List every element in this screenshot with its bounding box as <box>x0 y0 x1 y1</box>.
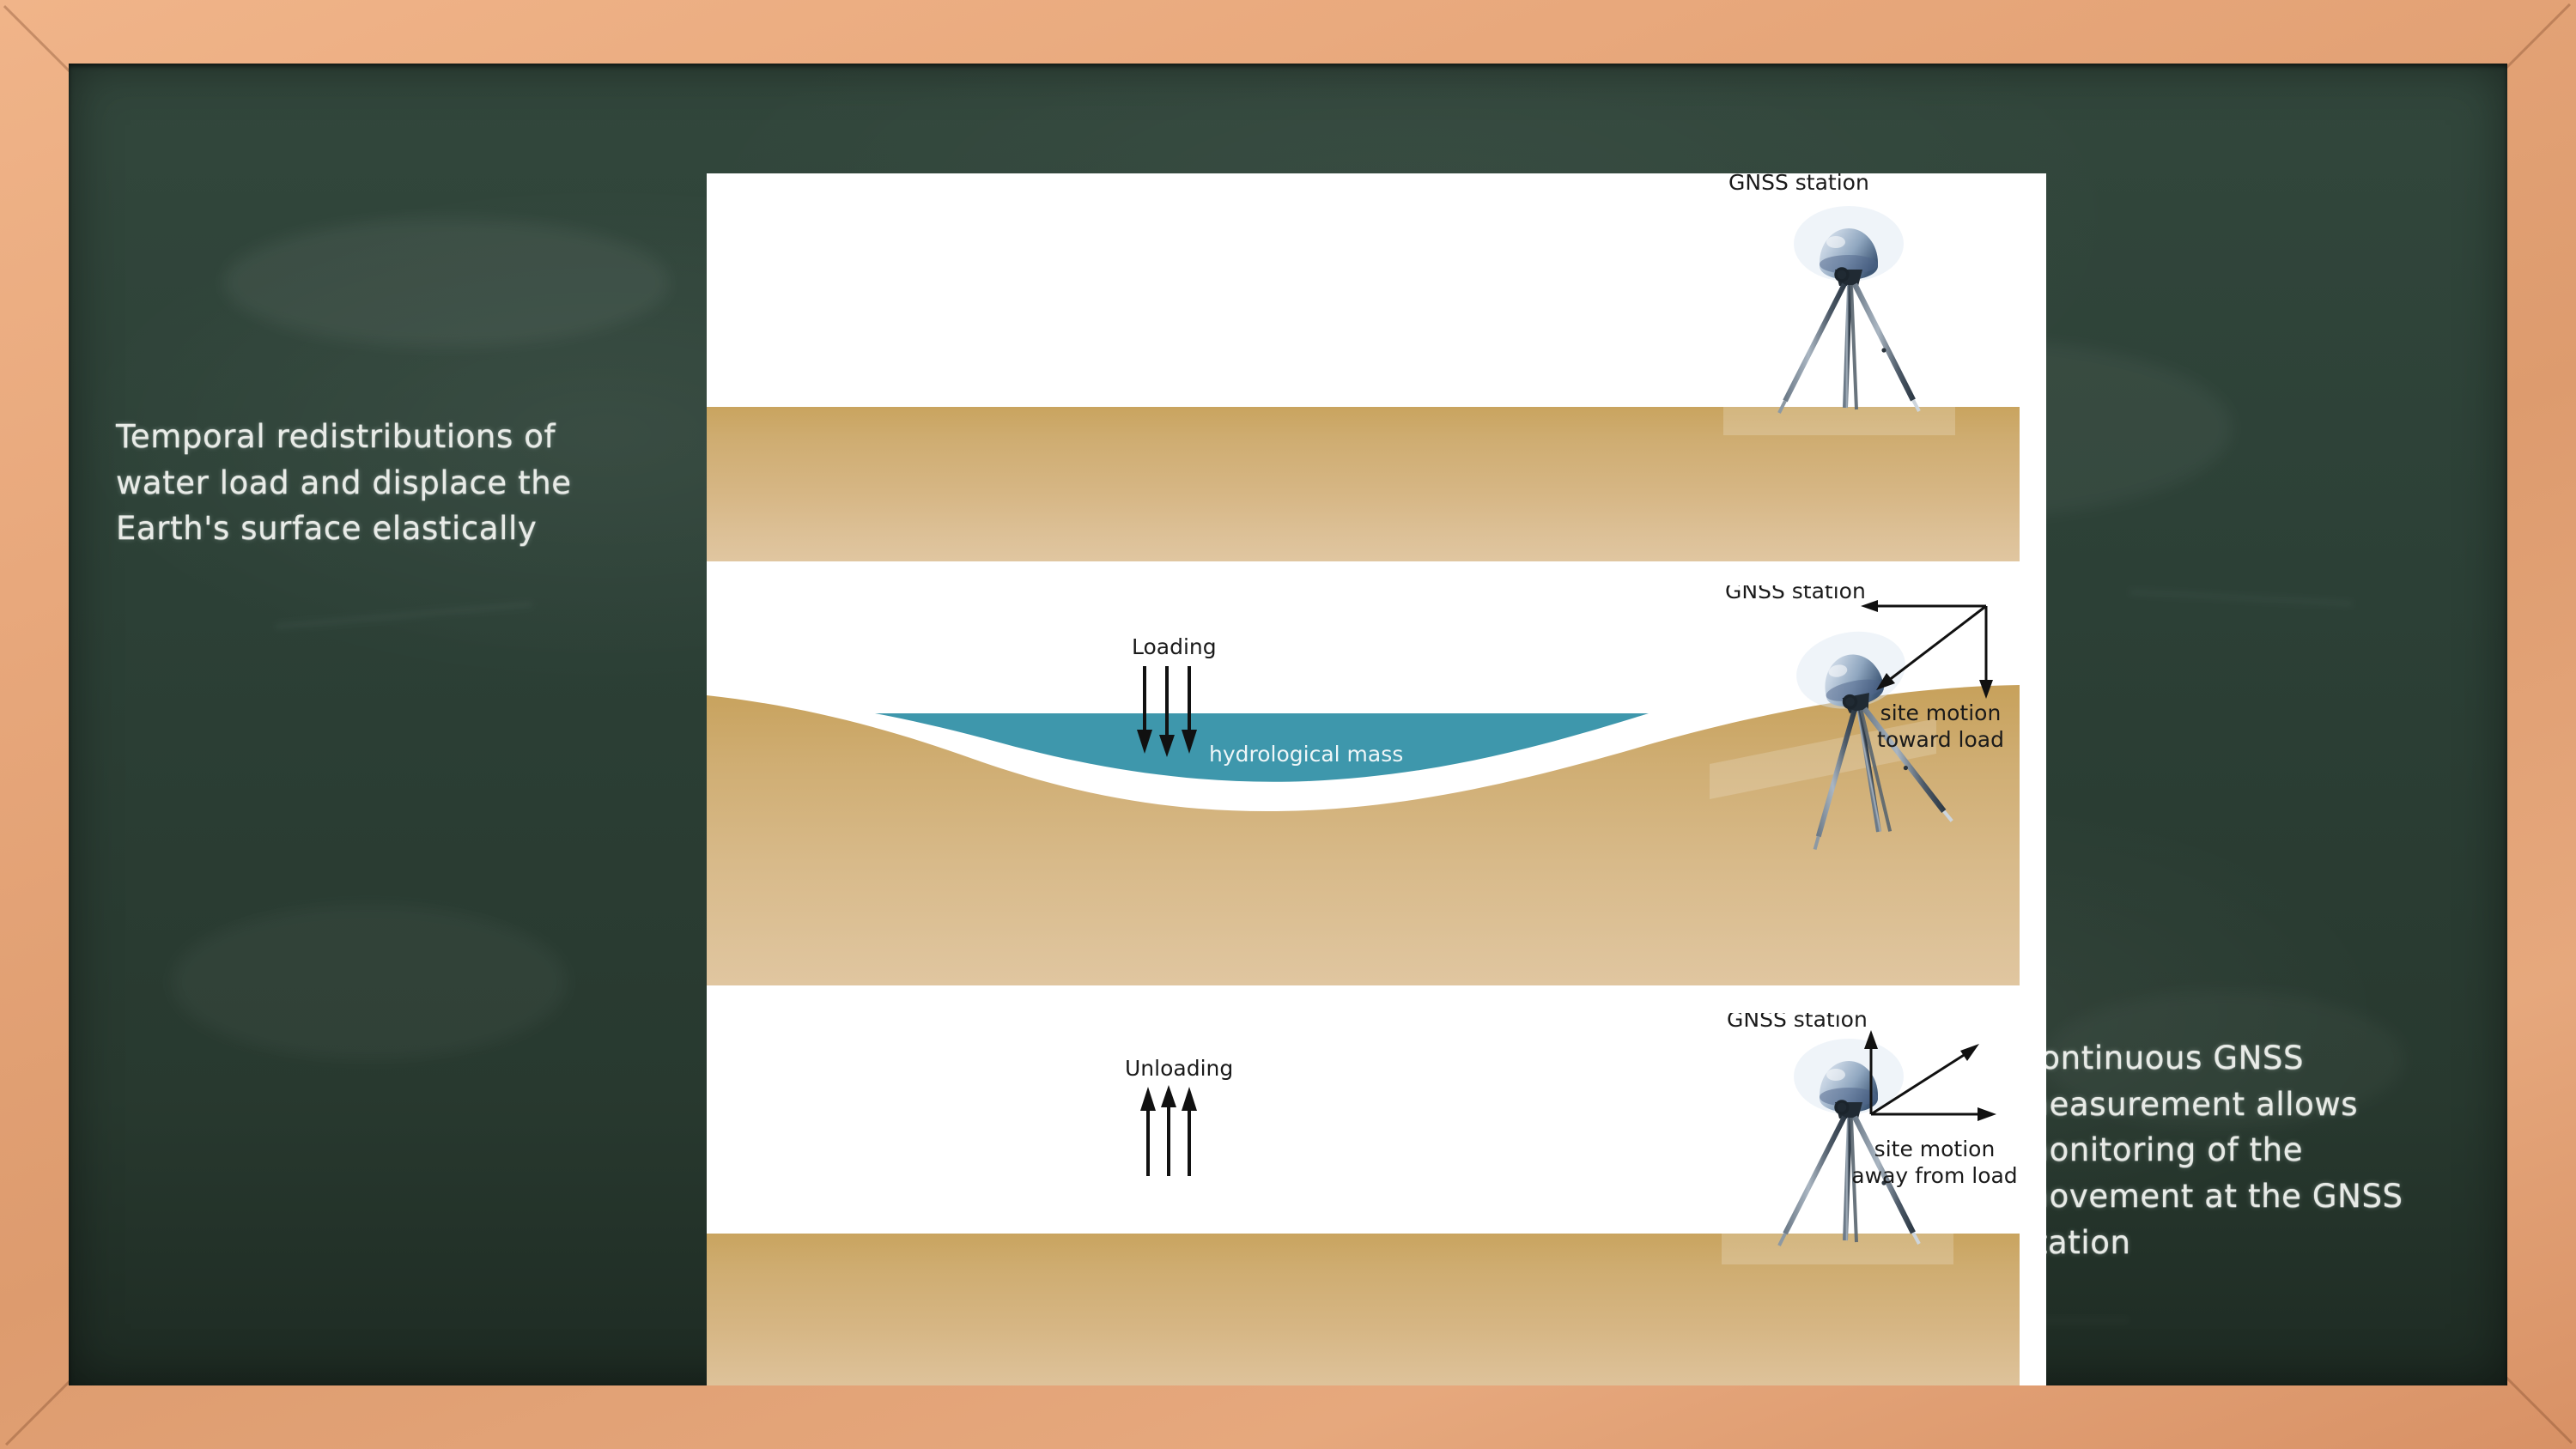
site-motion-away-from-load-vectors <box>1854 1028 2017 1131</box>
chalk-note-right: Continuous GNSS measurement allows monit… <box>2018 1035 2499 1265</box>
gnss-station-label: GNSS station <box>1727 1013 1868 1032</box>
chalkboard-surface: Temporal redistributions of water load a… <box>69 64 2507 1385</box>
site-motion-away-from-load-label: site motion away from load <box>1823 1137 2046 1189</box>
chalk-note-right-line-5: station <box>2018 1220 2499 1266</box>
panel-reference-state: GNSS station <box>707 173 2046 561</box>
site-motion-toward-load-line-2: toward load <box>1842 727 2039 754</box>
panel-unloaded-state: Unloading GNSS station <box>707 1013 2046 1385</box>
chalk-streak <box>275 602 532 629</box>
gnss-station-label: GNSS station <box>1728 173 1869 195</box>
site-motion-toward-load-vectors <box>1849 592 2020 704</box>
chalk-note-right-line-2: measurement allows <box>2018 1082 2499 1128</box>
chalk-note-right-line-4: movement at the GNSS <box>2018 1173 2499 1220</box>
loading-diagram-figure: GNSS station <box>707 173 2046 1385</box>
loading-arrows-down <box>1126 664 1237 759</box>
gnss-station-label: GNSS station <box>1725 585 1866 603</box>
chalk-note-left-line-3: Earth's surface elastically <box>116 506 648 552</box>
hydrological-mass-label: hydrological mass <box>1209 742 1403 767</box>
chalk-smudge <box>172 905 567 1059</box>
chalk-note-left-line-2: water load and displace the <box>116 460 648 506</box>
site-motion-toward-load-line-1: site motion <box>1842 700 2039 727</box>
site-motion-away-from-load-line-2: away from load <box>1823 1163 2046 1190</box>
site-motion-away-from-load-line-1: site motion <box>1823 1137 2046 1163</box>
chalkboard-wooden-frame: Temporal redistributions of water load a… <box>0 0 2576 1449</box>
panel-loaded-state: hydrological mass Loading GNSS station <box>707 585 2046 991</box>
site-motion-toward-load-label: site motion toward load <box>1842 700 2039 753</box>
chalk-note-left: Temporal redistributions of water load a… <box>116 414 648 552</box>
unloading-arrows-up <box>1134 1085 1237 1179</box>
chalk-note-right-line-3: monitoring of the <box>2018 1127 2499 1173</box>
unloading-label: Unloading <box>1125 1056 1233 1081</box>
chalk-note-right-line-1: Continuous GNSS <box>2018 1035 2499 1082</box>
chalk-smudge <box>223 218 670 347</box>
loading-label: Loading <box>1132 634 1217 659</box>
chalk-note-left-line-1: Temporal redistributions of <box>116 414 648 460</box>
chalk-streak <box>2129 590 2353 606</box>
